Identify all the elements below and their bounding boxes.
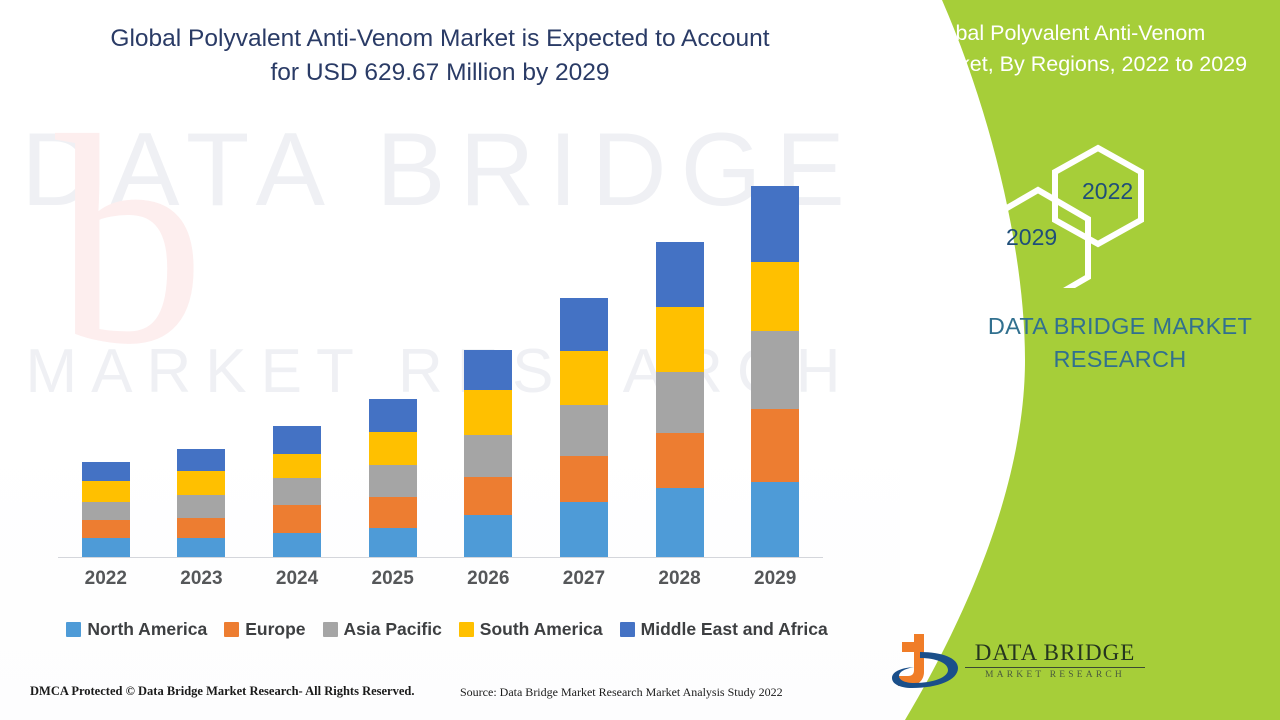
brand-name-line1: DATA BRIDGE MARKET — [960, 310, 1280, 343]
source-text: Source: Data Bridge Market Research Mark… — [460, 685, 783, 700]
bar-segment[interactable] — [82, 481, 130, 503]
page-title: Global Polyvalent Anti-Venom Market is E… — [60, 22, 820, 90]
bar-segment[interactable] — [177, 449, 225, 471]
bar-segment[interactable] — [82, 520, 130, 539]
bar-segment[interactable] — [560, 502, 608, 557]
legend-label: North America — [87, 619, 207, 640]
bar-segment[interactable] — [177, 538, 225, 557]
bar-segment[interactable] — [656, 433, 704, 488]
bar-segment[interactable] — [464, 515, 512, 557]
bar-segment[interactable] — [369, 465, 417, 497]
bar-column-2022[interactable] — [82, 462, 130, 557]
panel-title-line2: Market, By Regions, 2022 to 2029 — [922, 49, 1270, 80]
legend-swatch-icon — [224, 622, 239, 637]
bar-segment[interactable] — [273, 426, 321, 453]
x-axis-label-2025: 2025 — [358, 568, 428, 590]
bar-column-2024[interactable] — [273, 426, 321, 557]
hexagon-outlines — [978, 138, 1198, 288]
bar-column-2027[interactable] — [560, 298, 608, 557]
legend-label: Middle East and Africa — [641, 619, 828, 640]
legend-swatch-icon — [66, 622, 81, 637]
brand-name: DATA BRIDGE MARKET RESEARCH — [960, 310, 1280, 376]
bar-segment[interactable] — [656, 488, 704, 557]
legend-label: Asia Pacific — [344, 619, 442, 640]
x-axis-label-2027: 2027 — [549, 568, 619, 590]
legend-swatch-icon — [459, 622, 474, 637]
dbmr-logo-main: DATA BRIDGE — [965, 640, 1145, 666]
bar-segment[interactable] — [751, 186, 799, 262]
dbmr-logo-sub: MARKET RESEARCH — [965, 670, 1145, 680]
legend-item-middle-east-and-africa[interactable]: Middle East and Africa — [620, 619, 828, 640]
bar-column-2028[interactable] — [656, 242, 704, 557]
bar-column-2029[interactable] — [751, 186, 799, 557]
brand-name-line2: RESEARCH — [960, 343, 1280, 376]
bar-segment[interactable] — [177, 518, 225, 538]
bar-segment[interactable] — [464, 350, 512, 390]
bar-column-2026[interactable] — [464, 350, 512, 557]
bar-segment[interactable] — [82, 538, 130, 557]
bar-segment[interactable] — [656, 307, 704, 372]
page-title-line1: Global Polyvalent Anti-Venom Market is E… — [60, 22, 820, 56]
bar-segment[interactable] — [560, 351, 608, 404]
legend-item-asia-pacific[interactable]: Asia Pacific — [323, 619, 442, 640]
bar-segment[interactable] — [560, 405, 608, 457]
bar-segment[interactable] — [82, 502, 130, 519]
bar-segment[interactable] — [751, 409, 799, 482]
x-axis-line — [58, 557, 823, 558]
copyright-text: DMCA Protected © Data Bridge Market Rese… — [30, 684, 415, 699]
legend-label: Europe — [245, 619, 305, 640]
legend-label: South America — [480, 619, 603, 640]
x-axis-label-2029: 2029 — [740, 568, 810, 590]
bar-segment[interactable] — [656, 372, 704, 434]
bar-segment[interactable] — [273, 533, 321, 557]
page-title-line2: for USD 629.67 Million by 2029 — [60, 56, 820, 90]
bar-segment[interactable] — [464, 477, 512, 516]
bar-segment[interactable] — [177, 495, 225, 518]
bar-segment[interactable] — [369, 399, 417, 432]
legend-swatch-icon — [323, 622, 338, 637]
legend-item-north-america[interactable]: North America — [66, 619, 207, 640]
legend-item-south-america[interactable]: South America — [459, 619, 603, 640]
x-axis-label-2024: 2024 — [262, 568, 332, 590]
hexagon-2022-label: 2022 — [1082, 178, 1133, 205]
x-axis-labels: 20222023202420252026202720282029 — [58, 568, 823, 598]
chart-legend: North AmericaEuropeAsia PacificSouth Ame… — [52, 614, 842, 644]
bar-segment[interactable] — [560, 298, 608, 351]
bar-segment[interactable] — [751, 262, 799, 331]
panel-title: Global Polyvalent Anti-Venom Market, By … — [922, 18, 1270, 80]
bar-segment[interactable] — [369, 528, 417, 557]
x-axis-label-2022: 2022 — [71, 568, 141, 590]
hexagon-2029-label: 2029 — [1006, 224, 1057, 251]
bar-segment[interactable] — [464, 435, 512, 477]
bar-segment[interactable] — [82, 462, 130, 481]
bar-segment[interactable] — [273, 505, 321, 532]
chart-pane: b DATA BRIDGE MARKET RESEARCH Global Pol… — [0, 0, 900, 720]
bar-segment[interactable] — [369, 432, 417, 465]
x-axis-label-2026: 2026 — [453, 568, 523, 590]
hexagon-badges: 2022 2029 — [978, 138, 1198, 283]
bar-column-2025[interactable] — [369, 399, 417, 557]
bar-segment[interactable] — [369, 497, 417, 529]
bar-segment[interactable] — [177, 471, 225, 495]
bar-column-2023[interactable] — [177, 449, 225, 557]
panel-title-line1: Global Polyvalent Anti-Venom — [922, 18, 1270, 49]
x-axis-label-2028: 2028 — [645, 568, 715, 590]
legend-swatch-icon — [620, 622, 635, 637]
bar-segment[interactable] — [751, 331, 799, 409]
bar-segment[interactable] — [464, 390, 512, 435]
x-axis-label-2023: 2023 — [166, 568, 236, 590]
dbmr-logo-text: DATA BRIDGE MARKET RESEARCH — [965, 640, 1145, 680]
bar-segment[interactable] — [656, 242, 704, 307]
bar-segment[interactable] — [273, 454, 321, 478]
legend-item-europe[interactable]: Europe — [224, 619, 305, 640]
bar-segment[interactable] — [751, 482, 799, 557]
stacked-bar-chart — [58, 150, 823, 558]
dbmr-logo-rule — [965, 667, 1145, 668]
bar-segment[interactable] — [273, 478, 321, 505]
bar-segment[interactable] — [560, 456, 608, 502]
